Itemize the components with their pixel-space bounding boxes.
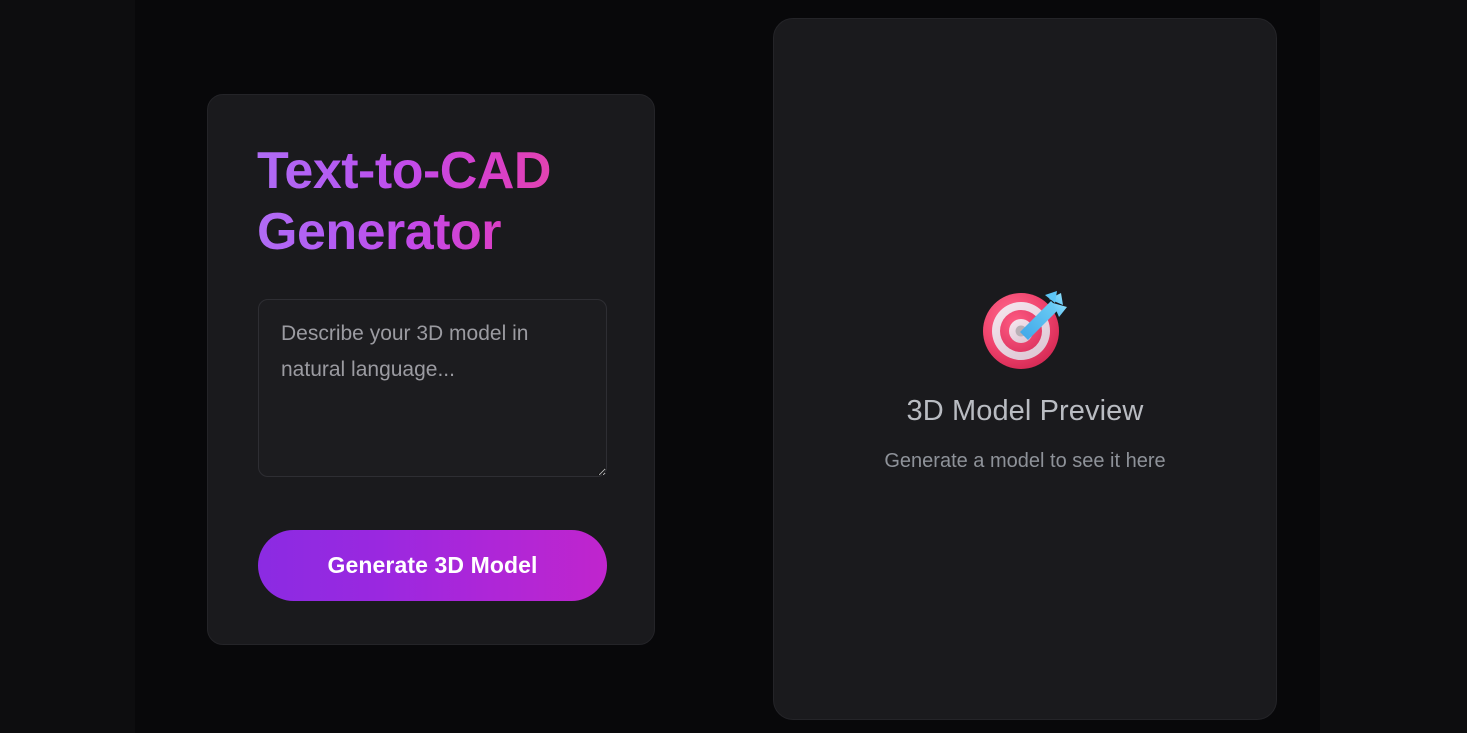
prompt-textarea[interactable] <box>258 299 607 477</box>
dart-target-icon <box>977 279 1073 375</box>
generate-3d-model-button[interactable]: Generate 3D Model <box>258 530 607 601</box>
page-title: Text-to-CAD Generator <box>257 141 607 263</box>
preview-heading: 3D Model Preview <box>774 395 1276 428</box>
generator-card: Text-to-CAD Generator Generate 3D Model <box>207 94 655 645</box>
app-root: Text-to-CAD Generator Generate 3D Model <box>0 0 1467 733</box>
preview-subtext: Generate a model to see it here <box>774 450 1276 473</box>
model-preview-panel: 3D Model Preview Generate a model to see… <box>773 18 1277 720</box>
preview-empty-state: 3D Model Preview Generate a model to see… <box>774 279 1276 473</box>
